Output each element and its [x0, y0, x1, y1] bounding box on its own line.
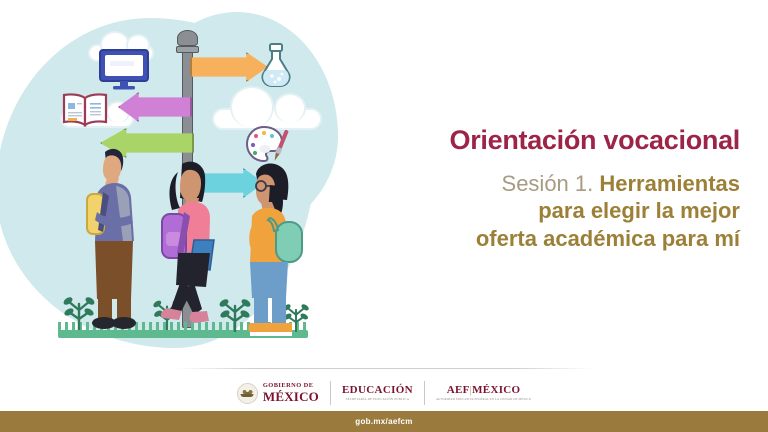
monitor-icon — [98, 48, 150, 90]
session-label: Sesión 1. — [502, 171, 600, 196]
footer-logos: GOBIERNO DE MÉXICO EDUCACIÓN SECRETARÍA … — [0, 376, 768, 410]
aef-acronym: AEF — [447, 384, 470, 396]
gobierno-big-text: MÉXICO — [263, 390, 319, 403]
subtitle-line-3: oferta académica para mí — [476, 226, 740, 251]
slide-root: Orientación vocacional Sesión 1. Herrami… — [0, 0, 768, 432]
page-title: Orientación vocacional — [340, 126, 740, 156]
aef-subtitle: AUTORIDAD EDUCATIVA FEDERAL EN LA CIUDAD… — [436, 398, 531, 401]
logo-educacion: EDUCACIÓN SECRETARÍA DE EDUCACIÓN PÚBLIC… — [331, 385, 424, 401]
signpost-cap — [177, 30, 198, 46]
flask-icon — [258, 42, 294, 88]
student-female-glasses — [236, 160, 310, 340]
student-male-arms-crossed — [75, 142, 147, 334]
footer-url: gob.mx/aefcm — [355, 417, 412, 426]
logo-aef-mexico: AEF|MÉXICO AUTORIDAD EDUCATIVA FEDERAL E… — [425, 385, 531, 401]
subtitle-line-2: para elegir la mejor — [538, 198, 740, 223]
eagle-seal-icon — [237, 383, 258, 404]
text-block: Orientación vocacional Sesión 1. Herrami… — [340, 126, 740, 253]
aef-mexico: MÉXICO — [472, 384, 520, 396]
footer: GOBIERNO DE MÉXICO EDUCACIÓN SECRETARÍA … — [0, 368, 768, 432]
subtitle-line-1: Herramientas — [599, 171, 740, 196]
student-female-walking — [150, 158, 228, 336]
footer-divider — [176, 368, 592, 369]
educacion-title: EDUCACIÓN — [342, 385, 413, 396]
url-bar: gob.mx/aefcm — [0, 411, 768, 432]
logo-gobierno-de-mexico: GOBIERNO DE MÉXICO — [237, 383, 330, 404]
signpost-ring — [176, 46, 199, 53]
palette-icon — [245, 125, 291, 165]
illustration — [0, 0, 360, 370]
educacion-subtitle: SECRETARÍA DE EDUCACIÓN PÚBLICA — [342, 398, 413, 401]
open-book-icon — [60, 92, 110, 128]
page-subtitle: Sesión 1. Herramientas para elegir la me… — [340, 170, 740, 253]
